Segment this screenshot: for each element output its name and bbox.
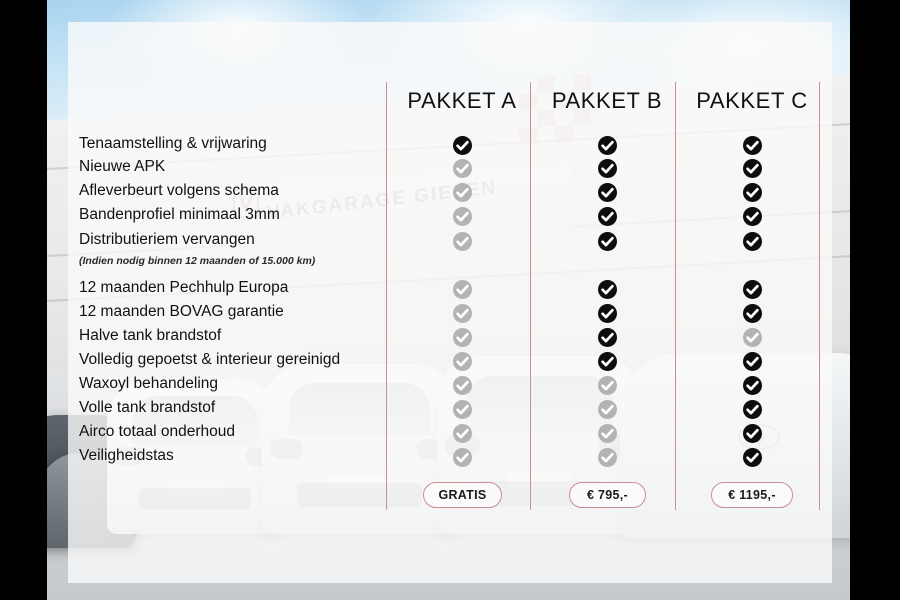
check-icon-b-excluded	[598, 376, 617, 395]
check-icon-c-included	[743, 400, 762, 419]
feature-label: Bandenprofiel minimaal 3mm	[79, 206, 280, 224]
letterbox-bar-left	[0, 0, 47, 600]
feature-label: Distributieriem vervangen	[79, 231, 255, 249]
check-icon-b-included	[598, 328, 617, 347]
check-icon-b-included	[598, 352, 617, 371]
check-icon-c-included	[743, 304, 762, 323]
check-icon-a-excluded	[453, 159, 472, 178]
package-comparison-table: PAKKET APAKKET BPAKKET CTenaamstelling &…	[0, 0, 900, 600]
feature-label: Nieuwe APK	[79, 158, 165, 176]
feature-label: Volledig gepoetst & interieur gereinigd	[79, 351, 340, 369]
price-badge-c[interactable]: € 1195,-	[711, 482, 793, 508]
check-icon-b-excluded	[598, 448, 617, 467]
check-icon-b-excluded	[598, 400, 617, 419]
check-icon-a-excluded	[453, 400, 472, 419]
column-divider-3	[819, 82, 820, 510]
check-icon-c-included	[743, 424, 762, 443]
check-icon-c-included	[743, 352, 762, 371]
check-icon-c-included	[743, 448, 762, 467]
feature-label: 12 maanden BOVAG garantie	[79, 303, 284, 321]
feature-label: Volle tank brandstof	[79, 399, 215, 417]
feature-label: Afleverbeurt volgens schema	[79, 182, 279, 200]
check-icon-c-included	[743, 280, 762, 299]
check-icon-b-excluded	[598, 424, 617, 443]
feature-label: 12 maanden Pechhulp Europa	[79, 279, 288, 297]
feature-label: Tenaamstelling & vrijwaring	[79, 135, 267, 153]
check-icon-b-included	[598, 159, 617, 178]
column-divider-2	[675, 82, 676, 510]
check-icon-a-excluded	[453, 304, 472, 323]
feature-label: Veiligheidstas	[79, 447, 174, 465]
check-icon-a-excluded	[453, 352, 472, 371]
check-icon-a-excluded	[453, 232, 472, 251]
check-icon-a-excluded	[453, 328, 472, 347]
check-icon-c-included	[743, 232, 762, 251]
check-icon-c-included	[743, 136, 762, 155]
column-header-c: PAKKET C	[662, 88, 842, 114]
check-icon-a-excluded	[453, 376, 472, 395]
column-divider-0	[386, 82, 387, 510]
check-icon-a-included	[453, 136, 472, 155]
check-icon-a-excluded	[453, 207, 472, 226]
check-icon-b-included	[598, 280, 617, 299]
feature-label: Airco totaal onderhoud	[79, 423, 235, 441]
price-badge-b[interactable]: € 795,-	[569, 482, 646, 508]
column-divider-1	[530, 82, 531, 510]
feature-note: (Indien nodig binnen 12 maanden of 15.00…	[79, 255, 315, 267]
feature-label: Waxoyl behandeling	[79, 375, 218, 393]
check-icon-b-included	[598, 136, 617, 155]
check-icon-a-excluded	[453, 280, 472, 299]
check-icon-b-included	[598, 207, 617, 226]
check-icon-b-included	[598, 304, 617, 323]
check-icon-c-excluded	[743, 328, 762, 347]
check-icon-a-excluded	[453, 424, 472, 443]
check-icon-a-excluded	[453, 448, 472, 467]
check-icon-c-included	[743, 183, 762, 202]
price-badge-a[interactable]: GRATIS	[423, 482, 502, 508]
check-icon-c-included	[743, 159, 762, 178]
check-icon-a-excluded	[453, 183, 472, 202]
feature-label: Halve tank brandstof	[79, 327, 221, 345]
check-icon-b-included	[598, 232, 617, 251]
check-icon-c-included	[743, 207, 762, 226]
check-icon-b-included	[598, 183, 617, 202]
check-icon-c-included	[743, 376, 762, 395]
letterbox-bar-right	[850, 0, 900, 600]
